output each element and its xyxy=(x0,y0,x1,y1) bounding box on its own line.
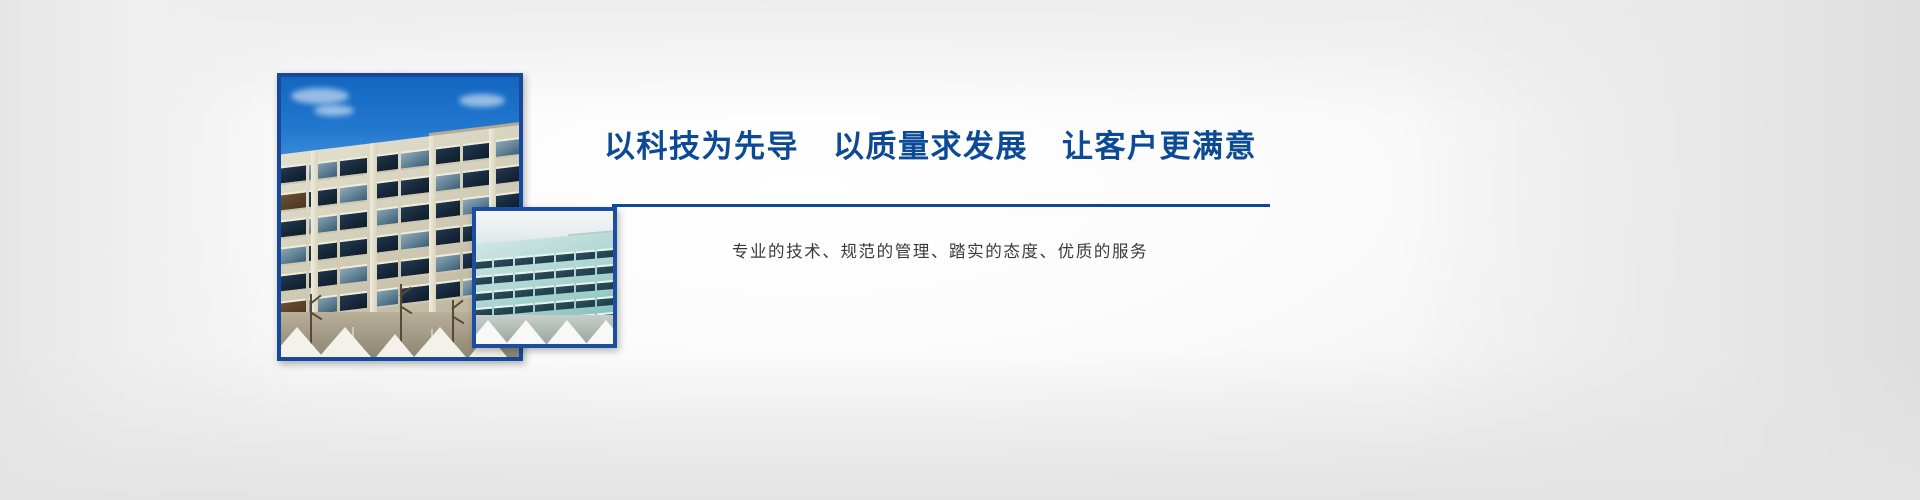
headline: 以科技为先导 以质量求发展 让客户更满意 xyxy=(590,130,1290,164)
headline-segment-1: 以科技为先导 xyxy=(604,130,799,164)
cloud-shape xyxy=(291,88,349,104)
background-bottom-gradient xyxy=(0,350,1920,500)
headline-divider-rule xyxy=(612,204,1270,207)
white-tent xyxy=(281,327,323,357)
white-tent xyxy=(414,327,466,357)
photo-secondary-glass-building xyxy=(472,207,617,348)
subtitle: 专业的技术、规范的管理、踏实的态度、优质的服务 xyxy=(590,238,1290,262)
white-tent xyxy=(547,320,587,344)
headline-segment-3: 让客户更满意 xyxy=(1062,130,1257,164)
white-tent xyxy=(476,320,508,344)
photo-secondary-content xyxy=(476,211,613,344)
hero-banner: 以科技为先导 以质量求发展 让客户更满意 专业的技术、规范的管理、踏实的态度、优… xyxy=(0,0,1920,500)
white-tent xyxy=(506,320,546,344)
headline-segment-2: 以质量求发展 xyxy=(833,130,1028,164)
white-tent xyxy=(319,327,371,357)
white-tent xyxy=(376,334,414,357)
banner-text-block: 以科技为先导 以质量求发展 让客户更满意 专业的技术、规范的管理、踏实的态度、优… xyxy=(590,130,1290,164)
cloud-shape xyxy=(459,94,505,107)
white-tent xyxy=(586,320,613,344)
